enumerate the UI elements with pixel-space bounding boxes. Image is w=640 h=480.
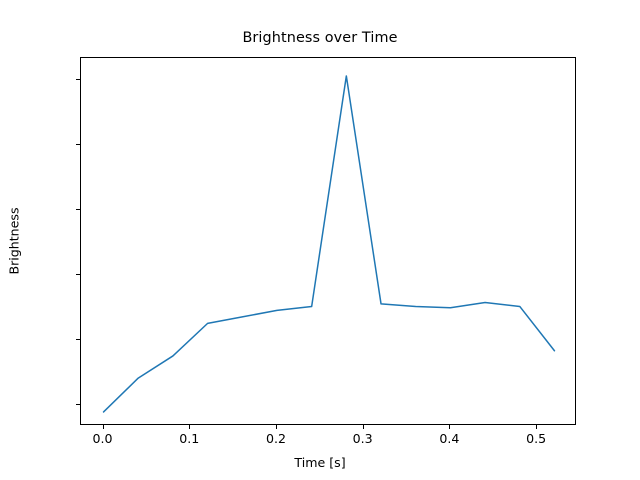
figure-canvas: Brightness over Time Brightness Time [s]… xyxy=(0,0,640,480)
brightness-line-series xyxy=(104,76,555,412)
x-tick-label: 0.4 xyxy=(419,431,479,446)
x-tick-label: 0.5 xyxy=(506,431,566,446)
x-tick-label: 0.0 xyxy=(73,431,133,446)
chart-title: Brightness over Time xyxy=(0,30,640,46)
x-tick-label: 0.1 xyxy=(159,431,219,446)
x-tick-label: 0.2 xyxy=(246,431,306,446)
x-axis-label: Time [s] xyxy=(0,455,640,470)
line-series-plot xyxy=(81,58,577,426)
y-axis-label: Brightness xyxy=(7,207,22,274)
plot-axes-frame xyxy=(80,57,576,425)
x-tick-label: 0.3 xyxy=(333,431,393,446)
